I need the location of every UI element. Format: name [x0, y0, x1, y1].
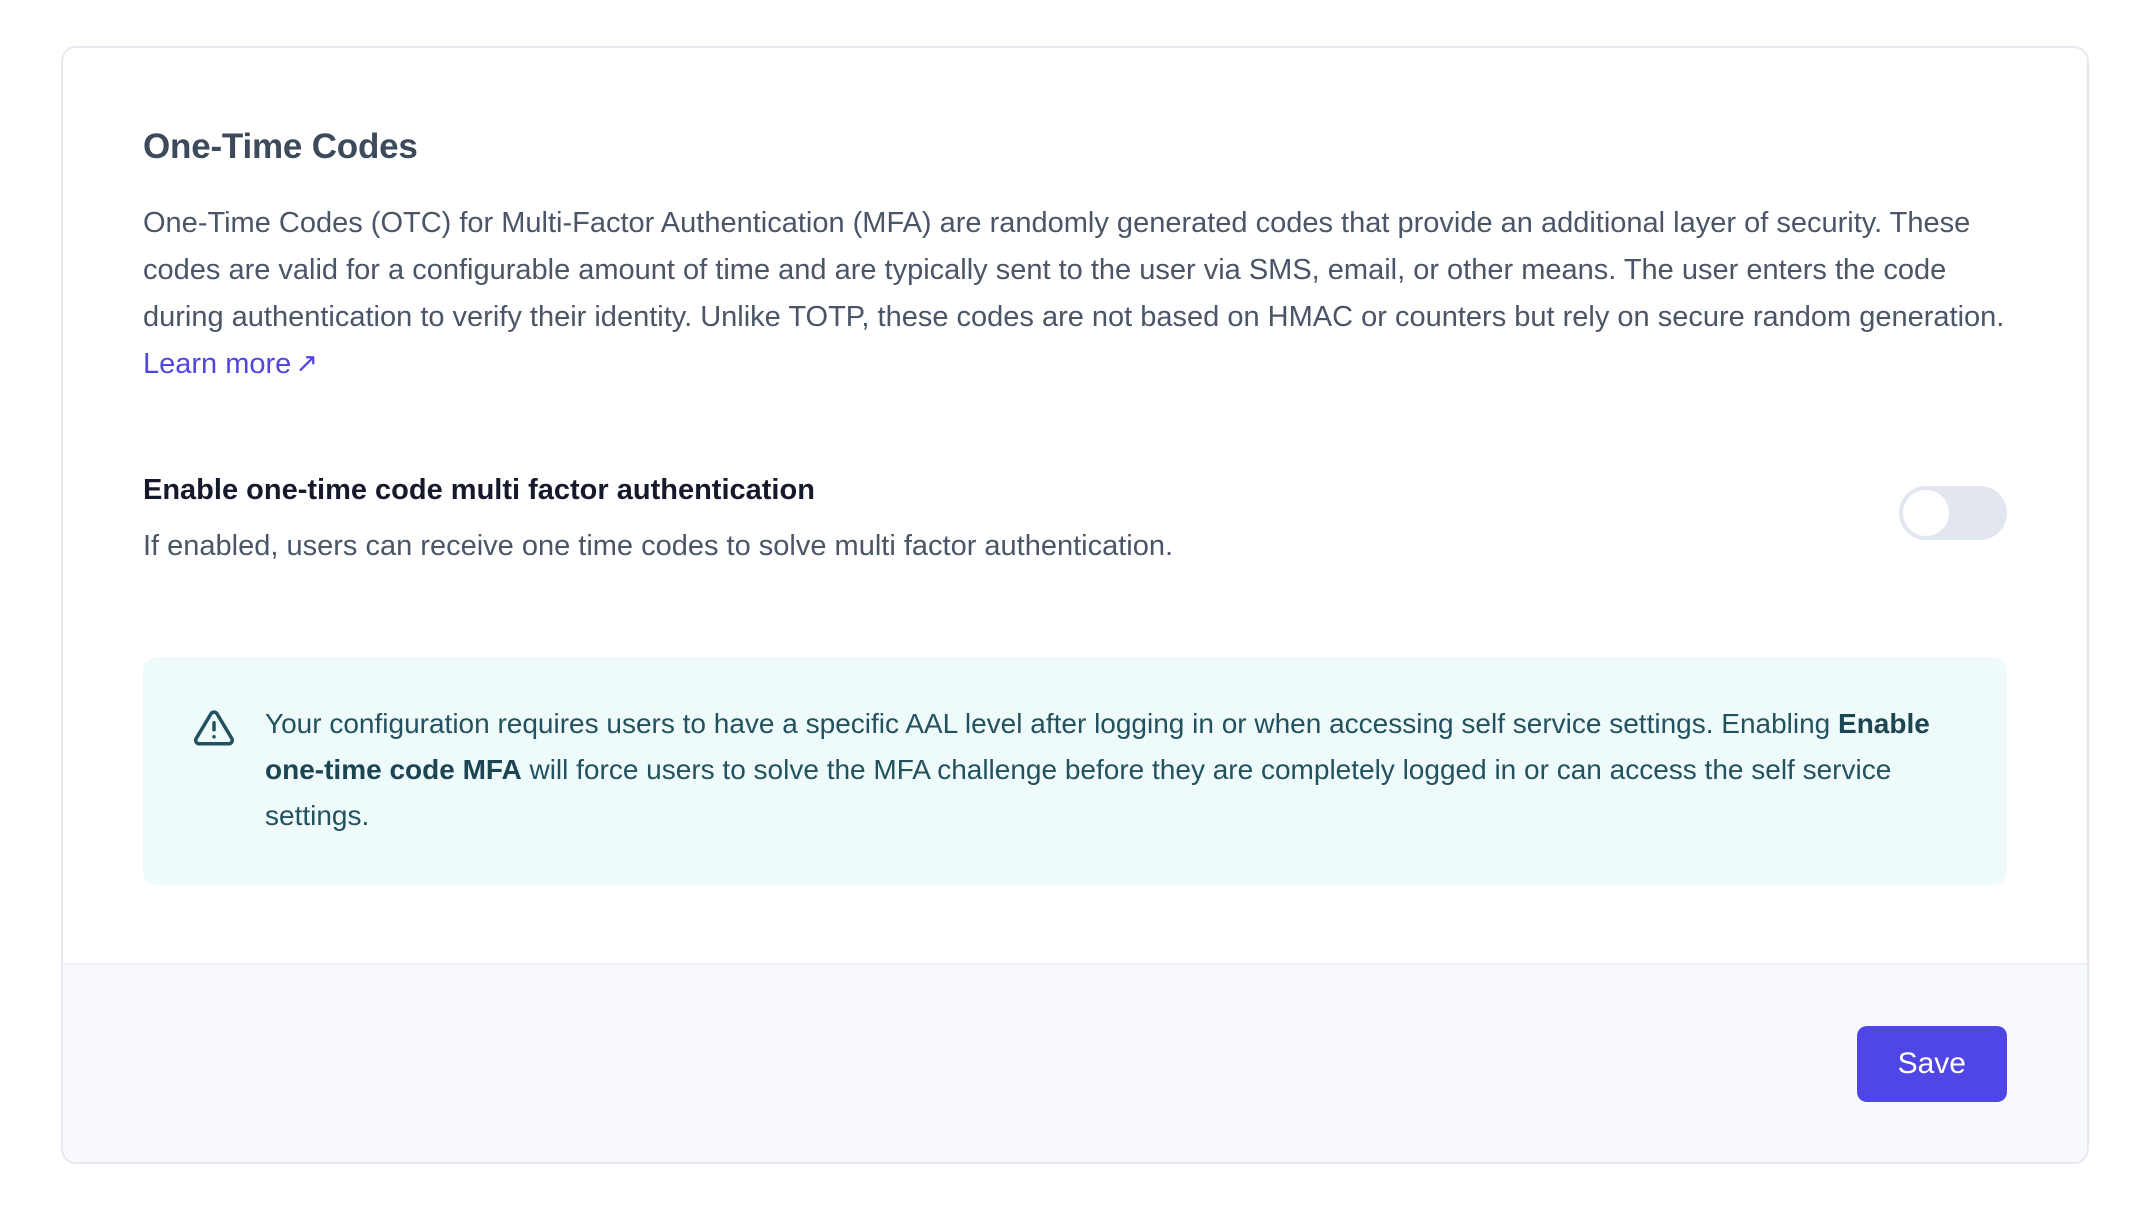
enable-otc-mfa-toggle[interactable] — [1899, 486, 2007, 540]
warning-text-lead: Your configuration requires users to hav… — [265, 708, 1838, 739]
learn-more-label: Learn more — [143, 348, 291, 380]
toggle-setting-label: Enable one-time code multi factor authen… — [143, 472, 1859, 510]
toggle-setting-description: If enabled, users can receive one time c… — [143, 528, 1859, 566]
section-description-text: One-Time Codes (OTC) for Multi-Factor Au… — [143, 207, 2004, 333]
save-button[interactable]: Save — [1857, 1026, 2007, 1102]
section-description: One-Time Codes (OTC) for Multi-Factor Au… — [143, 200, 2007, 388]
card-body: One-Time Codes One-Time Codes (OTC) for … — [63, 48, 2087, 963]
warning-triangle-icon — [193, 707, 235, 754]
toggle-knob — [1903, 490, 1949, 536]
external-link-arrow-icon: ↗ — [295, 340, 318, 387]
warning-callout: Your configuration requires users to hav… — [143, 657, 2007, 885]
learn-more-link[interactable]: Learn more↗ — [143, 348, 318, 380]
page-title: One-Time Codes — [143, 126, 2007, 168]
card-footer: Save — [63, 963, 2087, 1162]
toggle-setting-row: Enable one-time code multi factor authen… — [143, 472, 2007, 565]
warning-callout-text: Your configuration requires users to hav… — [265, 701, 1957, 839]
settings-card: One-Time Codes One-Time Codes (OTC) for … — [61, 46, 2089, 1164]
toggle-setting-texts: Enable one-time code multi factor authen… — [143, 472, 1859, 565]
